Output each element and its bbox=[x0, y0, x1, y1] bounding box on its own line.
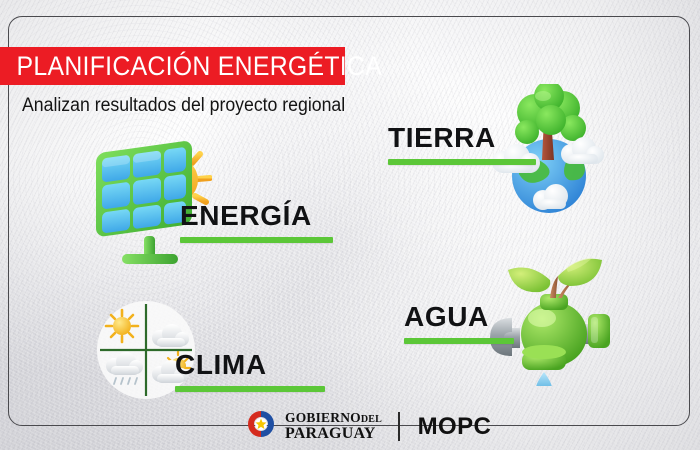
feature-underline-energia bbox=[180, 237, 333, 243]
paraguay-government-emblem-icon bbox=[246, 409, 276, 444]
feature-agua: AGUA bbox=[404, 303, 514, 344]
infographic-canvas: PLANIFICACIÓN ENERGÉTICA Analizan result… bbox=[0, 0, 700, 450]
page-subtitle: Analizan resultados del proyecto regiona… bbox=[22, 95, 345, 117]
feature-label-clima: CLIMA bbox=[175, 351, 325, 379]
page-title: PLANIFICACIÓN ENERGÉTICA bbox=[0, 51, 382, 82]
feature-underline-agua bbox=[404, 338, 514, 344]
gov-line-2: PARAGUAY bbox=[285, 426, 382, 442]
footer-divider bbox=[398, 412, 400, 441]
feature-energia: ENERGÍA bbox=[180, 202, 333, 243]
feature-underline-tierra bbox=[388, 159, 536, 165]
gov-line-1: GOBIERNODEL bbox=[285, 411, 382, 425]
feature-tierra: TIERRA bbox=[388, 124, 536, 165]
feature-label-agua: AGUA bbox=[404, 303, 514, 331]
government-wordmark: GOBIERNODEL PARAGUAY bbox=[285, 411, 382, 442]
title-banner: PLANIFICACIÓN ENERGÉTICA bbox=[0, 47, 345, 85]
footer-branding: GOBIERNODEL PARAGUAY MOPC bbox=[246, 409, 491, 444]
feature-label-energia: ENERGÍA bbox=[180, 202, 333, 230]
feature-label-tierra: TIERRA bbox=[388, 124, 536, 152]
feature-clima: CLIMA bbox=[175, 351, 325, 392]
mopc-wordmark: MOPC bbox=[418, 413, 492, 441]
feature-underline-clima bbox=[175, 386, 325, 392]
